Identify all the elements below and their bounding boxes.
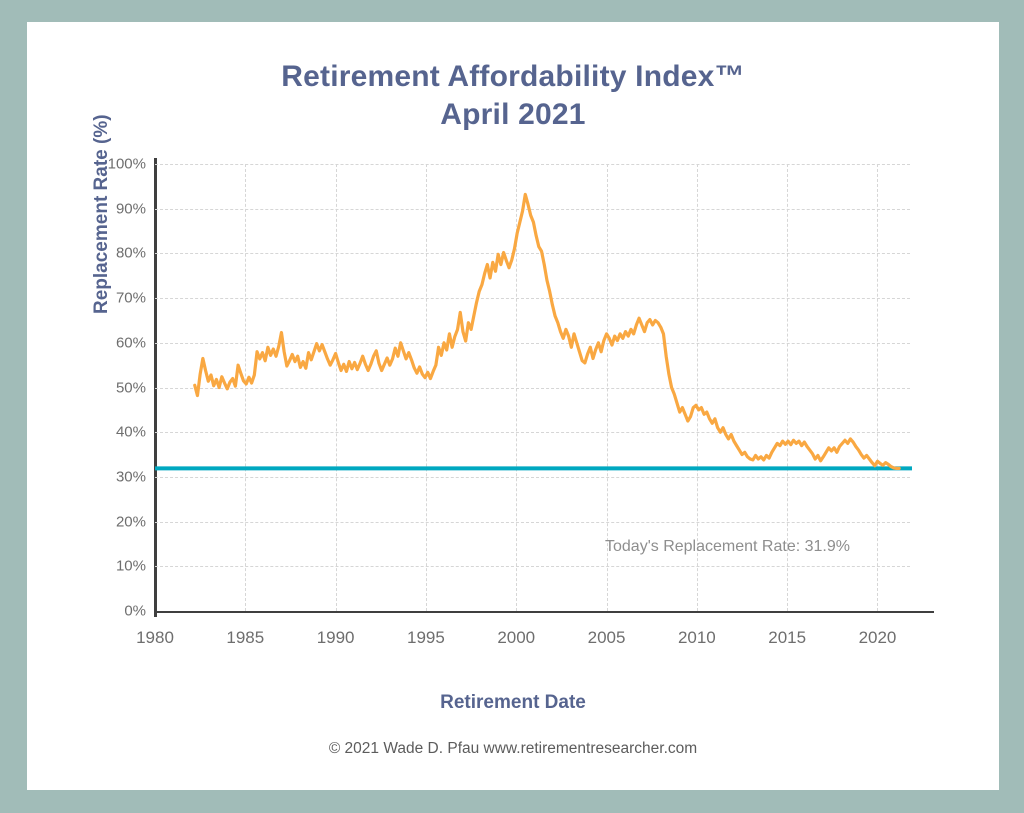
x-tick-label: 2010 bbox=[678, 628, 716, 648]
x-tick-label: 1985 bbox=[226, 628, 264, 648]
y-tick-label: 70% bbox=[116, 290, 146, 307]
series-line bbox=[195, 194, 899, 468]
chart-panel: Retirement Affordability Index™ April 20… bbox=[27, 22, 999, 790]
y-tick-label: 30% bbox=[116, 468, 146, 485]
x-tick-label: 2000 bbox=[497, 628, 535, 648]
threshold-annotation-label: Today's Replacement Rate: 31.9% bbox=[605, 538, 850, 556]
y-tick-label: 40% bbox=[116, 424, 146, 441]
y-axis-title: Replacement Rate (%) bbox=[91, 114, 113, 314]
y-tick-label: 20% bbox=[116, 513, 146, 530]
x-axis-title: Retirement Date bbox=[27, 692, 999, 714]
chart-frame: Retirement Affordability Index™ April 20… bbox=[0, 0, 1024, 813]
x-tick-label: 2005 bbox=[588, 628, 626, 648]
y-tick-label: 60% bbox=[116, 334, 146, 351]
x-tick-label: 2020 bbox=[859, 628, 897, 648]
y-tick-label: 50% bbox=[116, 379, 146, 396]
plot-wrapper: Replacement Rate (%) 0%10%20%30%40%50%60… bbox=[27, 22, 999, 790]
y-tick-label: 0% bbox=[124, 603, 146, 620]
y-tick-label: 10% bbox=[116, 558, 146, 575]
x-tick-label: 1990 bbox=[317, 628, 355, 648]
x-tick-label: 1995 bbox=[407, 628, 445, 648]
y-tick-label: 80% bbox=[116, 245, 146, 262]
copyright-text: © 2021 Wade D. Pfau www.retirementresear… bbox=[27, 740, 999, 758]
y-tick-label: 100% bbox=[108, 156, 146, 173]
y-tick-label: 90% bbox=[116, 200, 146, 217]
x-tick-label: 2015 bbox=[768, 628, 806, 648]
x-tick-label: 1980 bbox=[136, 628, 174, 648]
